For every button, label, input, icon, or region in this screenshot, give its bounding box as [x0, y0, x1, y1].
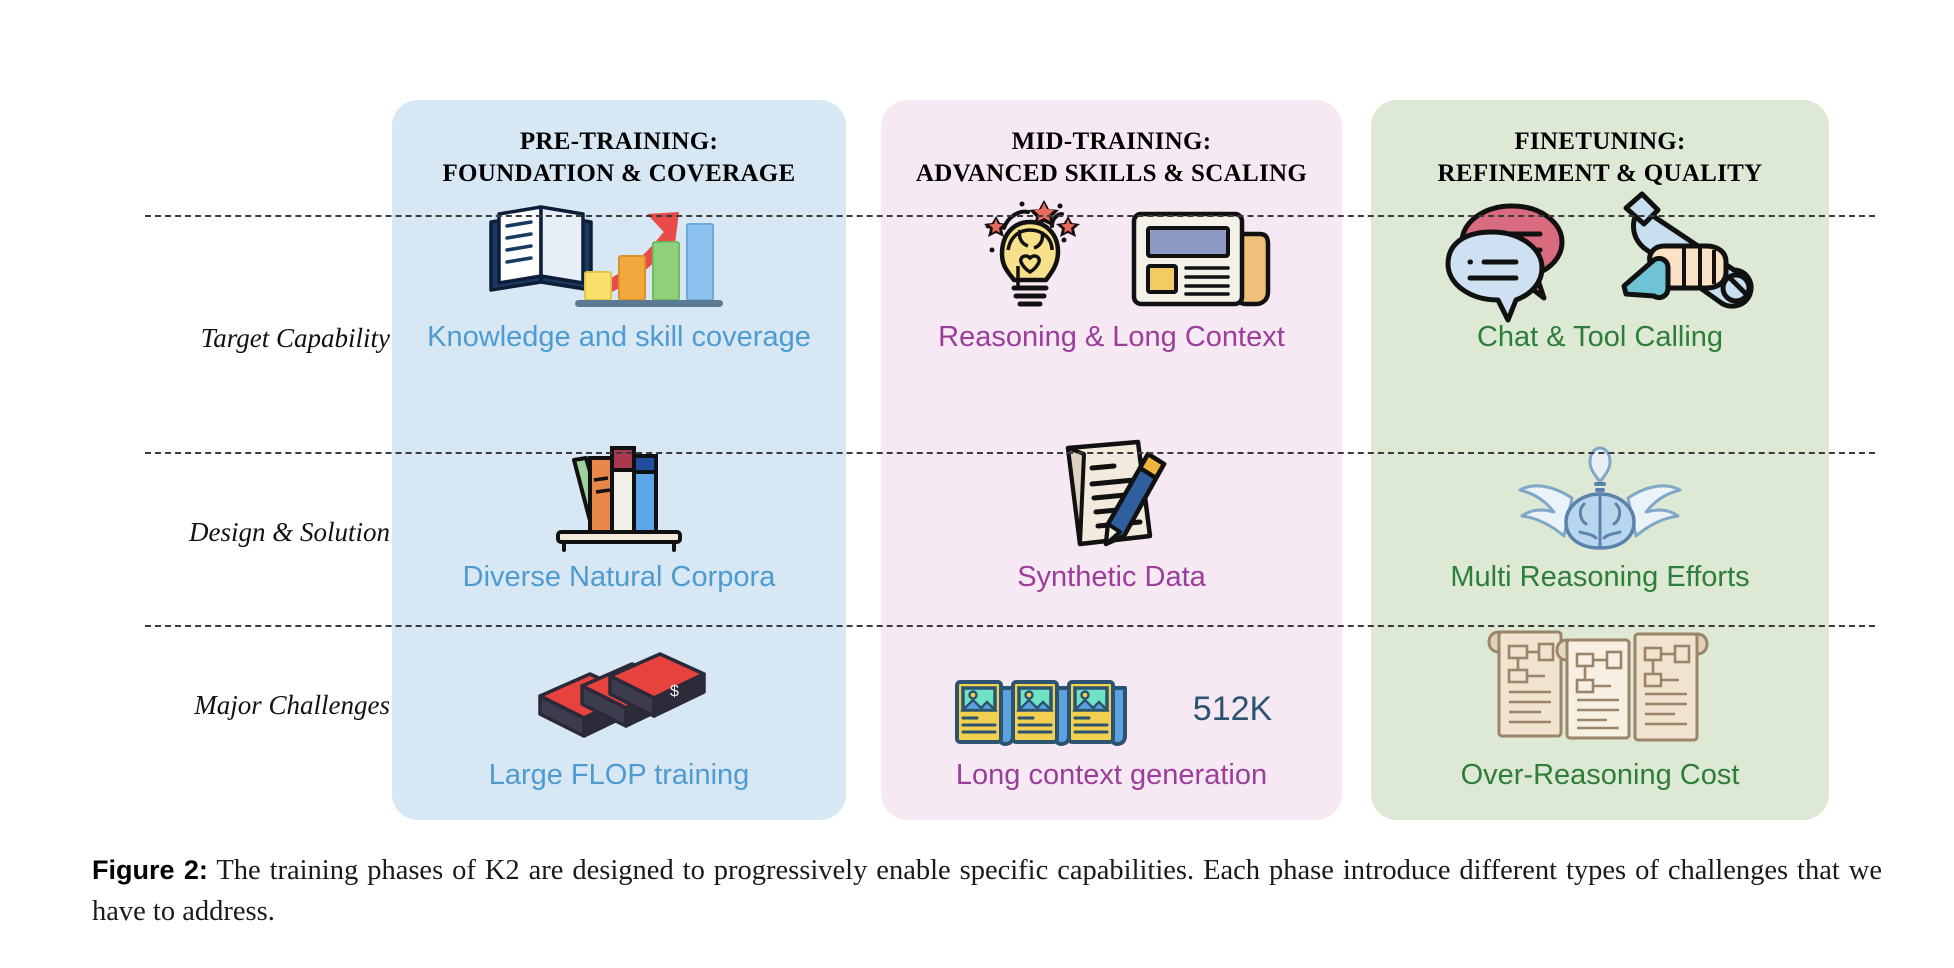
cell-artwork: 512K — [951, 674, 1272, 750]
cell-artwork — [1510, 442, 1690, 552]
cell-caption: Knowledge and skill coverage — [427, 322, 811, 354]
chat-bubbles-icon — [1440, 194, 1592, 312]
document-card — [1013, 682, 1069, 744]
row-label-major-challenges: Major Challenges — [140, 690, 390, 836]
cell-caption: Synthetic Data — [1017, 562, 1206, 594]
cell-caption: Chat & Tool Calling — [1477, 322, 1723, 354]
document-pencil-icon — [1042, 440, 1182, 552]
figure-container: PRE-TRAINING: FOUNDATION & COVERAGE MID-… — [0, 0, 1954, 968]
figure-label: Figure 2: — [92, 855, 208, 885]
row-divider-top — [145, 215, 1875, 217]
cell-caption: Long context generation — [956, 760, 1267, 792]
document-card — [957, 682, 1013, 744]
cell-finetuning-target-capability: Chat & Tool Calling — [1371, 232, 1829, 354]
column-header-pre-training: PRE-TRAINING: FOUNDATION & COVERAGE — [392, 126, 846, 190]
row-label-design-solution: Design & Solution — [140, 517, 390, 649]
column-header-line2: ADVANCED SKILLS & SCALING — [881, 158, 1342, 190]
cell-artwork — [479, 194, 759, 312]
cell-caption: Large FLOP training — [489, 760, 750, 792]
svg-text:$: $ — [670, 683, 679, 700]
cell-midtraining-target-capability: Reasoning & Long Context — [881, 232, 1342, 354]
column-header-line1: MID-TRAINING: — [1012, 128, 1212, 155]
document-card — [1069, 682, 1125, 744]
cell-artwork — [544, 444, 694, 552]
hand-wrench-icon — [1610, 194, 1760, 312]
row-divider-bottom — [145, 625, 1875, 627]
row-divider-middle — [145, 452, 1875, 454]
row-label-target-capability: Target Capability — [140, 323, 390, 445]
column-header-line2: REFINEMENT & QUALITY — [1371, 158, 1829, 190]
cell-artwork — [1440, 194, 1760, 312]
winged-brain-icon — [1510, 442, 1690, 552]
cell-artwork — [948, 192, 1276, 312]
cell-artwork — [1485, 622, 1715, 750]
cell-pretraining-major-challenges: $ $ $ Large FLOP training — [392, 646, 846, 792]
newspaper-icon — [1126, 204, 1276, 312]
cell-finetuning-major-challenges: Over-Reasoning Cost — [1371, 646, 1829, 792]
brain-lightbulb-icon — [948, 192, 1108, 312]
cell-caption: Over-Reasoning Cost — [1461, 760, 1740, 792]
column-header-line1: FINETUNING: — [1514, 128, 1685, 155]
column-header-finetuning: FINETUNING: REFINEMENT & QUALITY — [1371, 126, 1829, 190]
scroll-left — [1489, 632, 1561, 736]
cell-midtraining-major-challenges: 512K Long context generation — [881, 646, 1342, 792]
cell-caption: Reasoning & Long Context — [938, 322, 1285, 354]
column-header-line2: FOUNDATION & COVERAGE — [392, 158, 846, 190]
cell-caption: Multi Reasoning Efforts — [1450, 562, 1749, 594]
book-and-growth-chart-group — [479, 194, 759, 312]
document-stack-icon — [951, 674, 1151, 750]
column-header-mid-training: MID-TRAINING: ADVANCED SKILLS & SCALING — [881, 126, 1342, 190]
open-book-icon — [491, 207, 591, 290]
cell-pretraining-design-solution: Diverse Natural Corpora — [392, 462, 846, 594]
cell-pretraining-target-capability: Knowledge and skill coverage — [392, 232, 846, 354]
cell-artwork: $ $ $ — [524, 650, 714, 750]
server-rack-money-icon: $ $ $ — [524, 650, 714, 750]
cell-caption: Diverse Natural Corpora — [463, 562, 776, 594]
column-header-line1: PRE-TRAINING: — [520, 128, 718, 155]
figure-caption: Figure 2: The training phases of K2 are … — [92, 850, 1882, 932]
figure-caption-text: The training phases of K2 are designed t… — [92, 855, 1882, 927]
scroll-center — [1557, 640, 1629, 738]
scroll-right — [1635, 634, 1707, 740]
cell-artwork — [1042, 440, 1182, 552]
context-length-badge: 512K — [1193, 690, 1272, 735]
cell-finetuning-design-solution: Multi Reasoning Efforts — [1371, 462, 1829, 594]
cell-midtraining-design-solution: Synthetic Data — [881, 462, 1342, 594]
long-scrolls-icon — [1485, 622, 1715, 750]
bookshelf-icon — [544, 444, 694, 552]
